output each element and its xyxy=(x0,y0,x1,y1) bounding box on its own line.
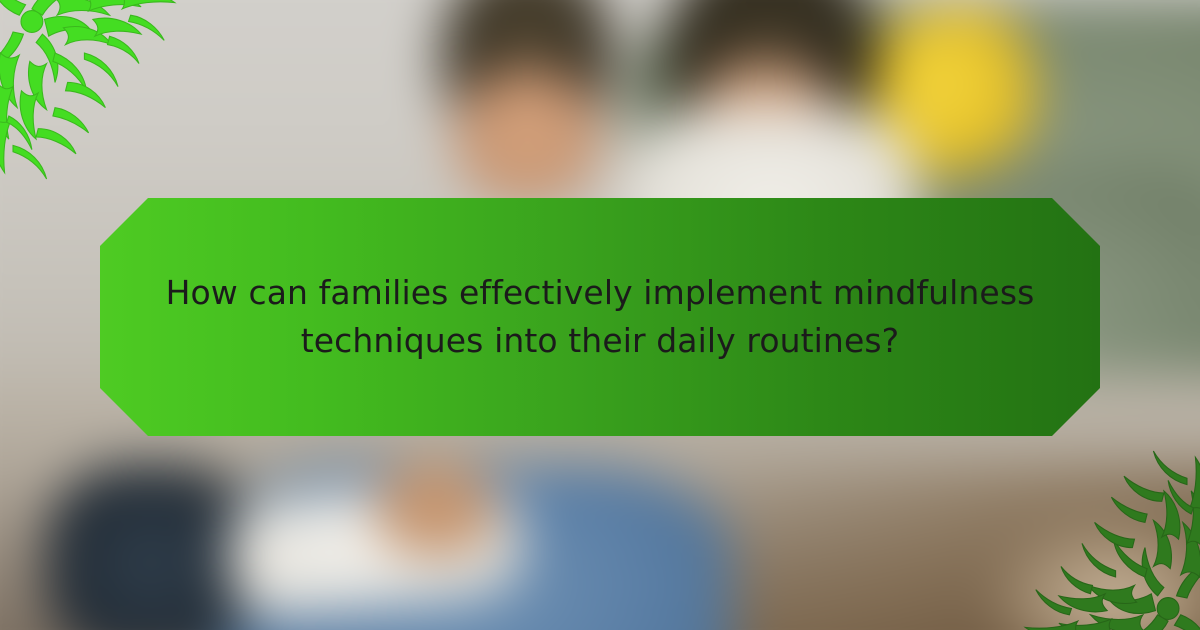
photo-child-a-face xyxy=(455,68,600,203)
question-card: How can families effectively implement m… xyxy=(0,0,1200,630)
question-text: How can families effectively implement m… xyxy=(100,269,1100,365)
photo-hands xyxy=(376,465,495,555)
question-banner: How can families effectively implement m… xyxy=(100,198,1100,436)
photo-knee-shadow xyxy=(46,465,257,630)
